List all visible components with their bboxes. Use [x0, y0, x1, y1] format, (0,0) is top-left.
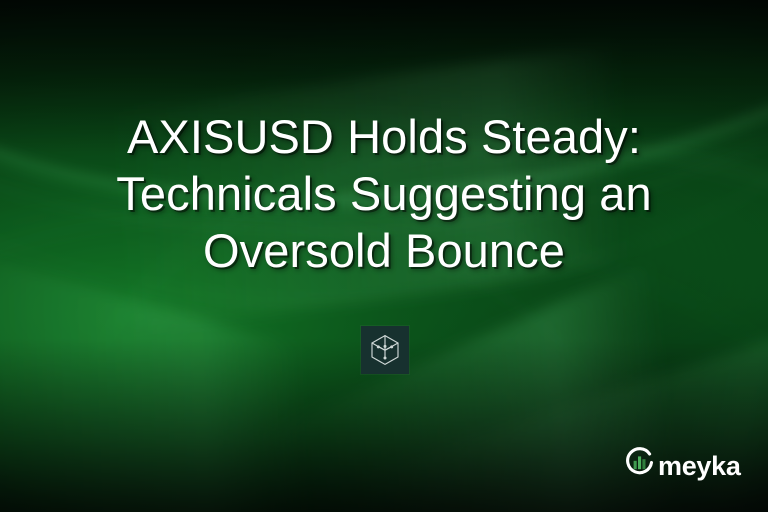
brand-logo: meyka — [624, 447, 741, 483]
light-streak-2 — [0, 259, 530, 512]
meyka-circle-bars-logo-icon — [624, 447, 655, 483]
headline-line-3: Oversold Bounce — [48, 222, 720, 279]
cube-network-icon — [370, 334, 400, 366]
headline-line-2: Technicals Suggesting an — [48, 165, 720, 222]
ticker-icon-tile — [361, 326, 409, 374]
headline-line-1: AXISUSD Holds Steady: — [48, 108, 720, 165]
brand-wordmark: meyka — [658, 453, 741, 480]
headline: AXISUSD Holds Steady: Technicals Suggest… — [0, 108, 768, 279]
social-share-card: AXISUSD Holds Steady: Technicals Suggest… — [0, 0, 768, 512]
